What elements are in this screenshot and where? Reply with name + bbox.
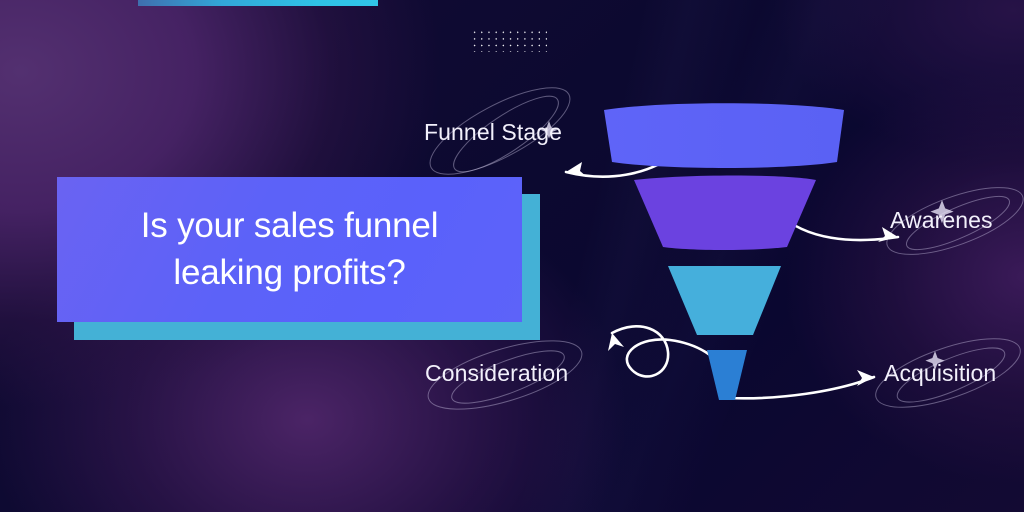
top-accent-bar [138,0,378,6]
funnel-label-consideration: Consideration [425,360,568,387]
dot-grid-icon [471,29,547,52]
page-title: Is your sales funnel leaking profits? [123,203,457,296]
poster-canvas: Is your sales funnel leaking profits? Fu… [0,0,1024,512]
funnel-label-acquisition: Acquisition [884,360,996,387]
funnel-label-awareness: Awarenes [890,207,993,234]
headline-card: Is your sales funnel leaking profits? [57,177,522,322]
funnel-label-stage: Funnel Stage [424,119,562,146]
